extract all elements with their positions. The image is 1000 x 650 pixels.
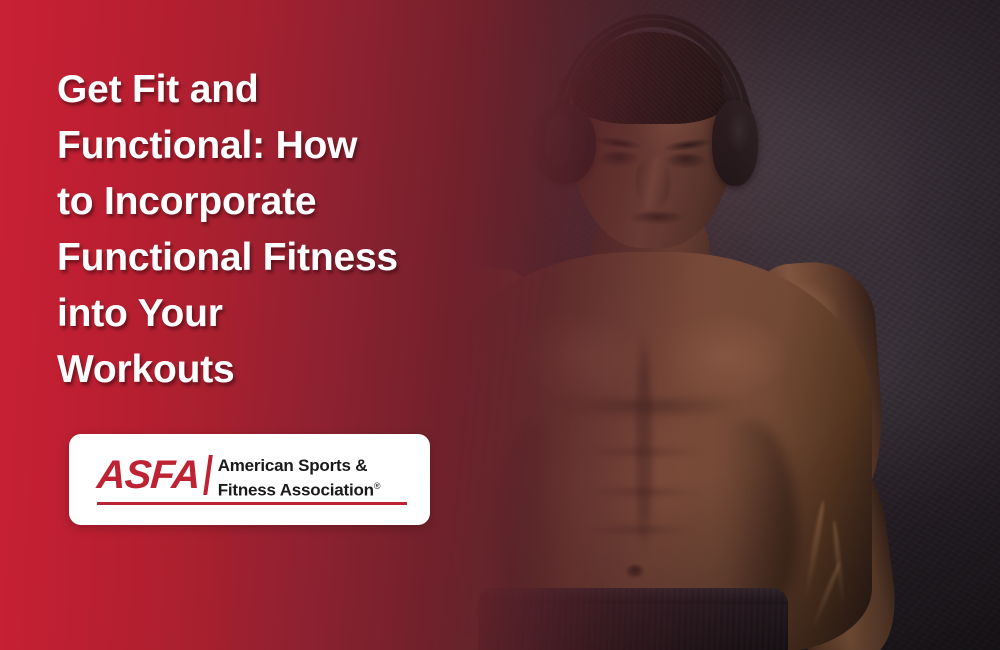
asfa-wordmark: ASFA xyxy=(96,454,206,496)
asfa-logo-card: ASFA American Sports &Fitness Associatio… xyxy=(69,434,430,525)
asfa-org-name: American Sports &Fitness Association® xyxy=(218,454,381,501)
asfa-org-name-line2: Fitness Association xyxy=(218,481,374,500)
banner-image: Get Fit and Functional: How to Incorpora… xyxy=(0,0,1000,650)
asfa-logo-underline xyxy=(97,502,407,505)
asfa-logo: ASFA American Sports &Fitness Associatio… xyxy=(97,454,407,508)
asfa-org-name-line1: American Sports & xyxy=(218,456,368,475)
page-title: Get Fit and Functional: How to Incorpora… xyxy=(57,62,487,398)
asfa-logo-row: ASFA American Sports &Fitness Associatio… xyxy=(97,454,407,498)
banner-content: Get Fit and Functional: How to Incorpora… xyxy=(0,0,1000,650)
registered-trademark-icon: ® xyxy=(374,481,380,491)
